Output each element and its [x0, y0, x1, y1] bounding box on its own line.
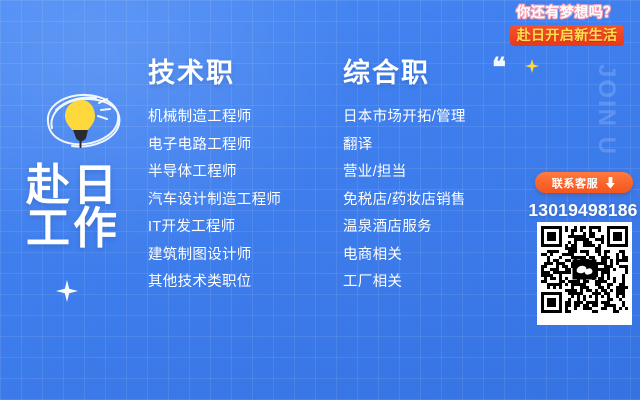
sparkle-star-icon-yellow	[525, 59, 539, 73]
list-item[interactable]: 免税店/药妆店销售	[343, 193, 466, 208]
headline-banner-holder: 赴日开启新生活	[498, 25, 636, 46]
list-item[interactable]: IT开发工程师	[148, 220, 281, 235]
page-title: 赴日 工作	[26, 164, 146, 250]
join-us-watermark: JOIN U	[592, 64, 620, 156]
list-item[interactable]: 机械制造工程师	[148, 110, 281, 125]
lightbulb-icon	[36, 82, 128, 162]
job-column-heading-general: 综合职	[343, 60, 466, 87]
list-item[interactable]: 其他技术类职位	[148, 275, 281, 290]
list-item[interactable]: 营业/担当	[343, 165, 466, 180]
job-list-tech: 机械制造工程师 电子电路工程师 半导体工程师 汽车设计制造工程师 IT开发工程师…	[148, 110, 281, 290]
job-column-tech: 技术职 机械制造工程师 电子电路工程师 半导体工程师 汽车设计制造工程师 IT开…	[148, 60, 281, 303]
qr-code-icon[interactable]	[537, 222, 632, 325]
list-item[interactable]: 温泉酒店服务	[343, 220, 466, 235]
list-item[interactable]: 电商相关	[343, 248, 466, 263]
contact-support-label: 联系客服	[552, 175, 598, 191]
list-item[interactable]: 翻译	[343, 138, 466, 153]
job-list-general: 日本市场开拓/管理 翻译 营业/担当 免税店/药妆店销售 温泉酒店服务 电商相关…	[343, 110, 466, 290]
list-item[interactable]: 电子电路工程师	[148, 138, 281, 153]
arrow-down-icon	[605, 177, 616, 189]
list-item[interactable]: 汽车设计制造工程师	[148, 193, 281, 208]
list-item[interactable]: 工厂相关	[343, 275, 466, 290]
list-item[interactable]: 日本市场开拓/管理	[343, 110, 466, 125]
contact-support-button[interactable]: 联系客服	[535, 172, 633, 193]
job-column-heading-tech: 技术职	[148, 60, 281, 87]
contact-phone-number[interactable]: 13019498186	[527, 200, 639, 221]
headline-block: 你还有梦想吗？ 赴日开启新生活	[498, 5, 636, 46]
list-item[interactable]: 半导体工程师	[148, 165, 281, 180]
headline-question: 你还有梦想吗？	[498, 5, 636, 20]
page-title-line1: 赴日	[26, 164, 146, 207]
lightbulb-badge	[36, 82, 128, 162]
job-column-general: 综合职 日本市场开拓/管理 翻译 营业/担当 免税店/药妆店销售 温泉酒店服务 …	[343, 60, 466, 303]
list-item[interactable]: 建筑制图设计师	[148, 248, 281, 263]
poster-canvas: JOIN U 你还有梦想吗？ 赴日开启新生活 ❝ 赴日	[0, 0, 640, 400]
quotation-mark-icon: ❝	[492, 55, 506, 81]
sparkle-star-icon-white	[56, 280, 78, 302]
headline-banner: 赴日开启新生活	[510, 25, 625, 46]
page-title-line2: 工作	[26, 207, 146, 250]
